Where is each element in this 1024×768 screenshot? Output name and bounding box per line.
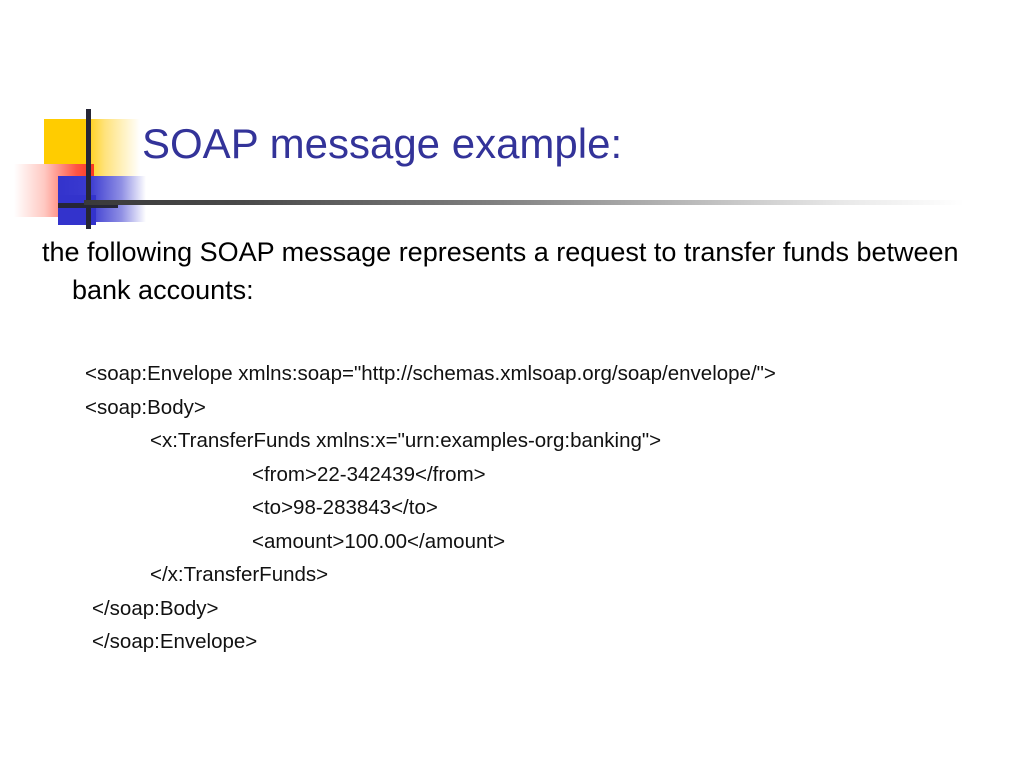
title-divider: [84, 200, 964, 205]
code-line: </x:TransferFunds>: [85, 558, 985, 592]
code-line: </soap:Body>: [85, 592, 985, 626]
slide-title: SOAP message example:: [142, 118, 962, 170]
code-line: <amount>100.00</amount>: [85, 525, 985, 559]
slide-body-text: the following SOAP message represents a …: [42, 233, 1012, 309]
vertical-bar-icon: [86, 109, 91, 229]
blue-band-icon: [58, 176, 146, 222]
code-line: </soap:Envelope>: [85, 625, 985, 659]
code-line: <soap:Envelope xmlns:soap="http://schema…: [85, 357, 985, 391]
code-line: <x:TransferFunds xmlns:x="urn:examples-o…: [85, 424, 985, 458]
slide: SOAP message example: the following SOAP…: [0, 0, 1024, 768]
code-line: <soap:Body>: [85, 391, 985, 425]
code-line: <from>22-342439</from>: [85, 458, 985, 492]
yellow-square-icon: [44, 119, 140, 197]
red-square-icon: [14, 164, 94, 217]
code-line: <to>98-283843</to>: [85, 491, 985, 525]
soap-message-code-block: <soap:Envelope xmlns:soap="http://schema…: [85, 357, 985, 659]
